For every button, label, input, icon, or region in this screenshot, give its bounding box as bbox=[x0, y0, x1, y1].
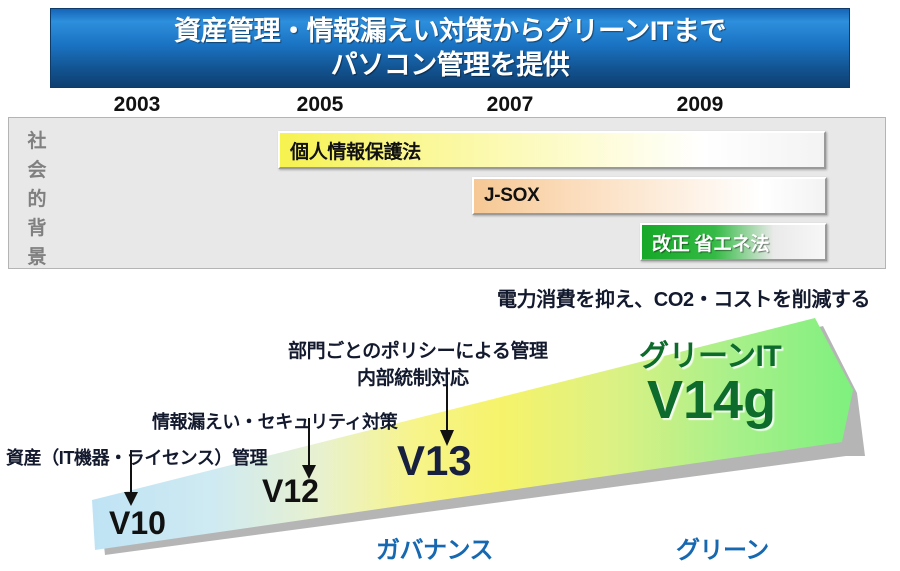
annotation-security-measures: 情報漏えい・セキュリティ対策 bbox=[152, 408, 397, 434]
law-bar-revised-energy-saving-act: 改正 省エネ法 bbox=[640, 223, 827, 261]
annotation-green-benefit: 電力消費を抑え、CO2・コストを削減する bbox=[497, 283, 870, 312]
annotation-asset-management: 資産（IT機器・ライセンス）管理 bbox=[6, 444, 267, 470]
caption-green: グリーン bbox=[676, 530, 769, 565]
slide-root: 資産管理・情報漏えい対策からグリーンITまで パソコン管理を提供 2003 20… bbox=[0, 0, 900, 571]
social-background-label: 社会的背景 bbox=[23, 128, 51, 272]
annotation-internal-control: 内部統制対応 bbox=[357, 363, 469, 390]
annotation-policy-management: 部門ごとのポリシーによる管理 bbox=[288, 336, 548, 363]
year-label-2005: 2005 bbox=[297, 93, 344, 117]
law-bar-j-sox: J-SOX bbox=[472, 177, 827, 215]
year-label-2003: 2003 bbox=[114, 93, 161, 117]
year-label-2007: 2007 bbox=[487, 93, 534, 117]
version-label-v12: V12 bbox=[262, 473, 319, 510]
version-label-v10: V10 bbox=[109, 505, 166, 542]
version-label-v13: V13 bbox=[397, 437, 472, 485]
version-label-v14g: V14g bbox=[647, 369, 776, 431]
law-bar-label: 個人情報保護法 bbox=[280, 137, 421, 164]
law-bar-label: 改正 省エネ法 bbox=[642, 229, 769, 256]
year-label-2009: 2009 bbox=[677, 93, 724, 117]
law-bar-label: J-SOX bbox=[474, 185, 540, 207]
year-axis: 2003 2005 2007 2009 bbox=[0, 93, 900, 119]
header-banner: 資産管理・情報漏えい対策からグリーンITまで パソコン管理を提供 bbox=[50, 8, 850, 88]
law-bar-personal-information-protection-act: 個人情報保護法 bbox=[278, 131, 826, 169]
banner-title-line-2: パソコン管理を提供 bbox=[331, 48, 570, 82]
caption-governance: ガバナンス bbox=[376, 530, 493, 565]
banner-title-line-1: 資産管理・情報漏えい対策からグリーンITまで bbox=[174, 14, 726, 48]
